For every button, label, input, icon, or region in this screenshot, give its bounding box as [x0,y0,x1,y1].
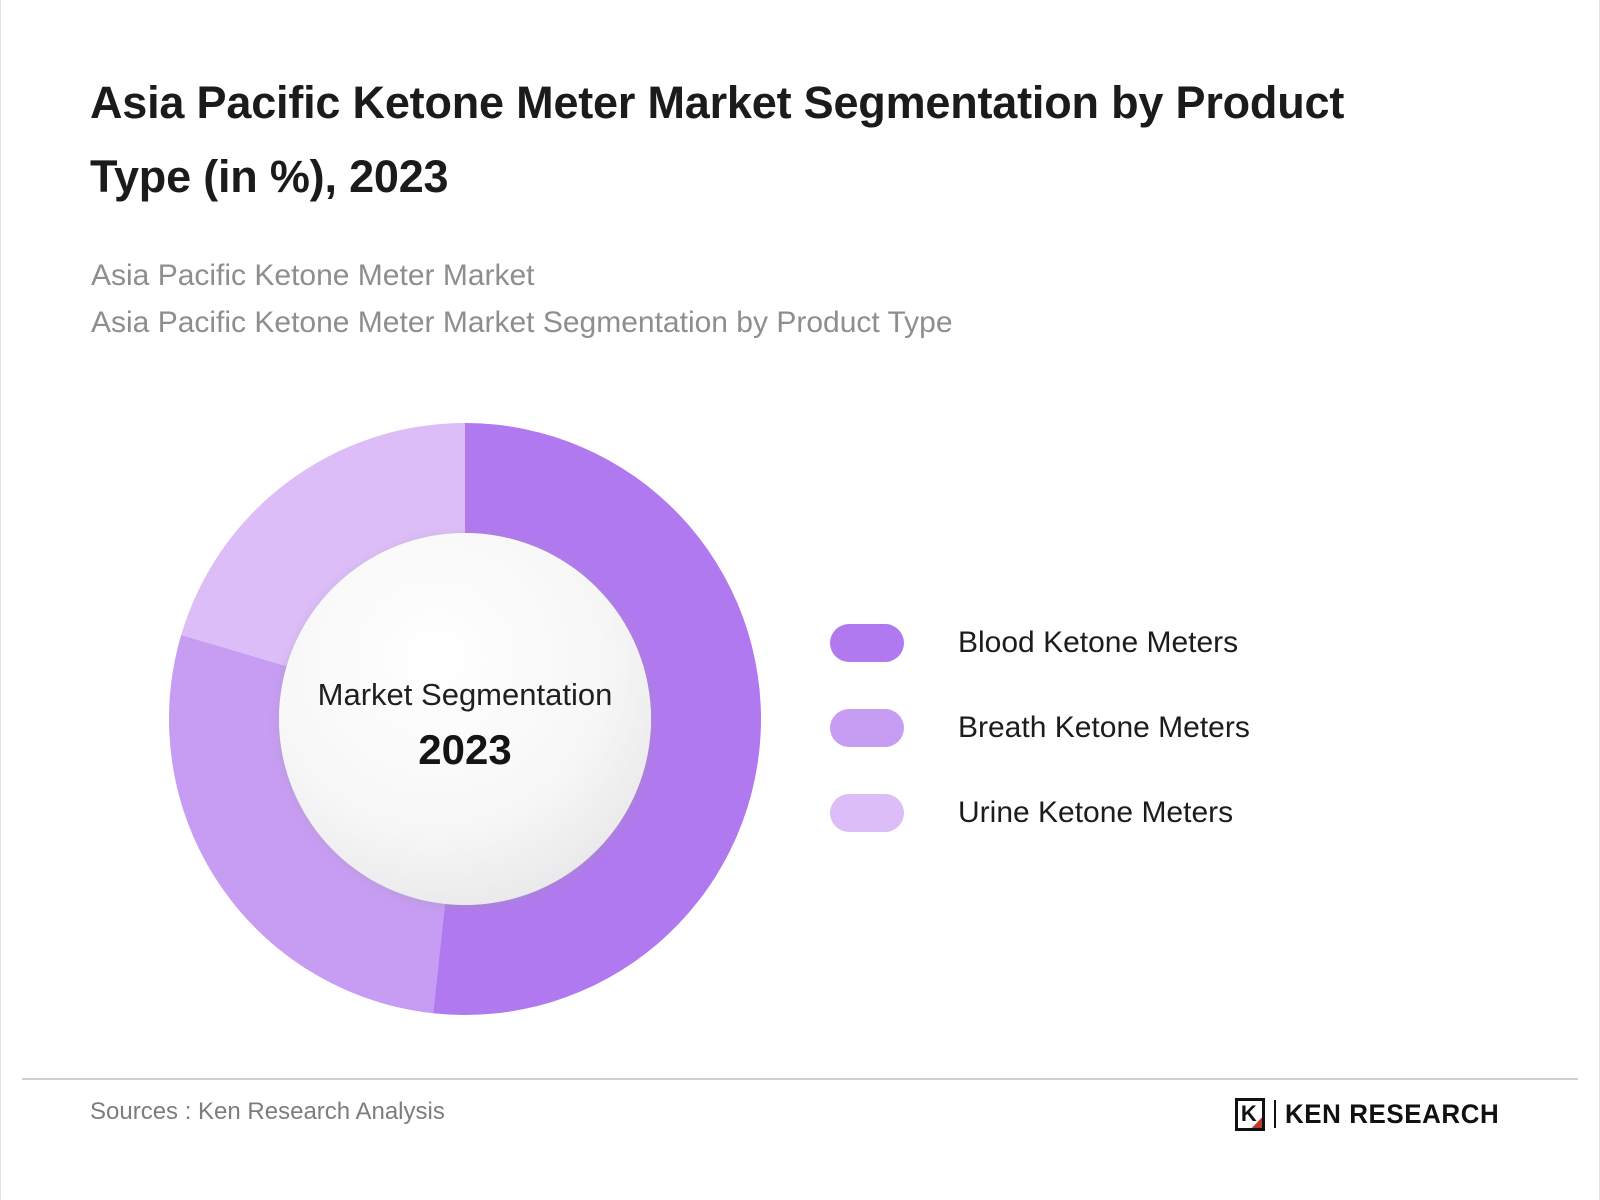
chart-legend: Blood Ketone Meters Breath Ketone Meters… [830,600,1470,855]
donut-chart-svg: Market Segmentation 2023 [168,422,762,1016]
ken-research-logo: K KEN RESEARCH [1235,1096,1508,1132]
legend-swatch-icon-breath [830,709,904,747]
left-edge-rule [0,0,1,1200]
slide-canvas: Asia Pacific Ketone Meter Market Segment… [0,0,1600,1200]
donut-center-caption: Market Segmentation [318,677,613,712]
donut-chart: Market Segmentation 2023 [168,422,762,1016]
subtitle-line-segmentation: Asia Pacific Ketone Meter Market Segment… [91,299,1391,346]
subtitle-line-market: Asia Pacific Ketone Meter Market [91,252,1391,299]
footer-sources-text: Sources : Ken Research Analysis [90,1098,445,1126]
legend-item-blood-ketone-meters[interactable]: Blood Ketone Meters [830,600,1470,685]
donut-center-hole [279,533,651,905]
footer-divider [22,1078,1578,1080]
logo-k-letter: K [1241,1103,1257,1125]
page-title: Asia Pacific Ketone Meter Market Segment… [90,66,1380,214]
legend-item-breath-ketone-meters[interactable]: Breath Ketone Meters [830,685,1470,770]
logo-divider-bar [1274,1100,1276,1128]
legend-label-breath: Breath Ketone Meters [958,711,1250,745]
subtitle-block: Asia Pacific Ketone Meter Market Asia Pa… [91,252,1391,347]
donut-center-year: 2023 [418,726,511,773]
legend-swatch-icon-blood [830,624,904,662]
legend-label-urine: Urine Ketone Meters [958,796,1233,830]
brand-name-text: KEN RESEARCH [1285,1101,1499,1128]
ken-research-mark-icon: K [1235,1098,1265,1131]
legend-item-urine-ketone-meters[interactable]: Urine Ketone Meters [830,770,1470,855]
legend-label-blood: Blood Ketone Meters [958,626,1238,660]
legend-swatch-icon-urine [830,794,904,832]
